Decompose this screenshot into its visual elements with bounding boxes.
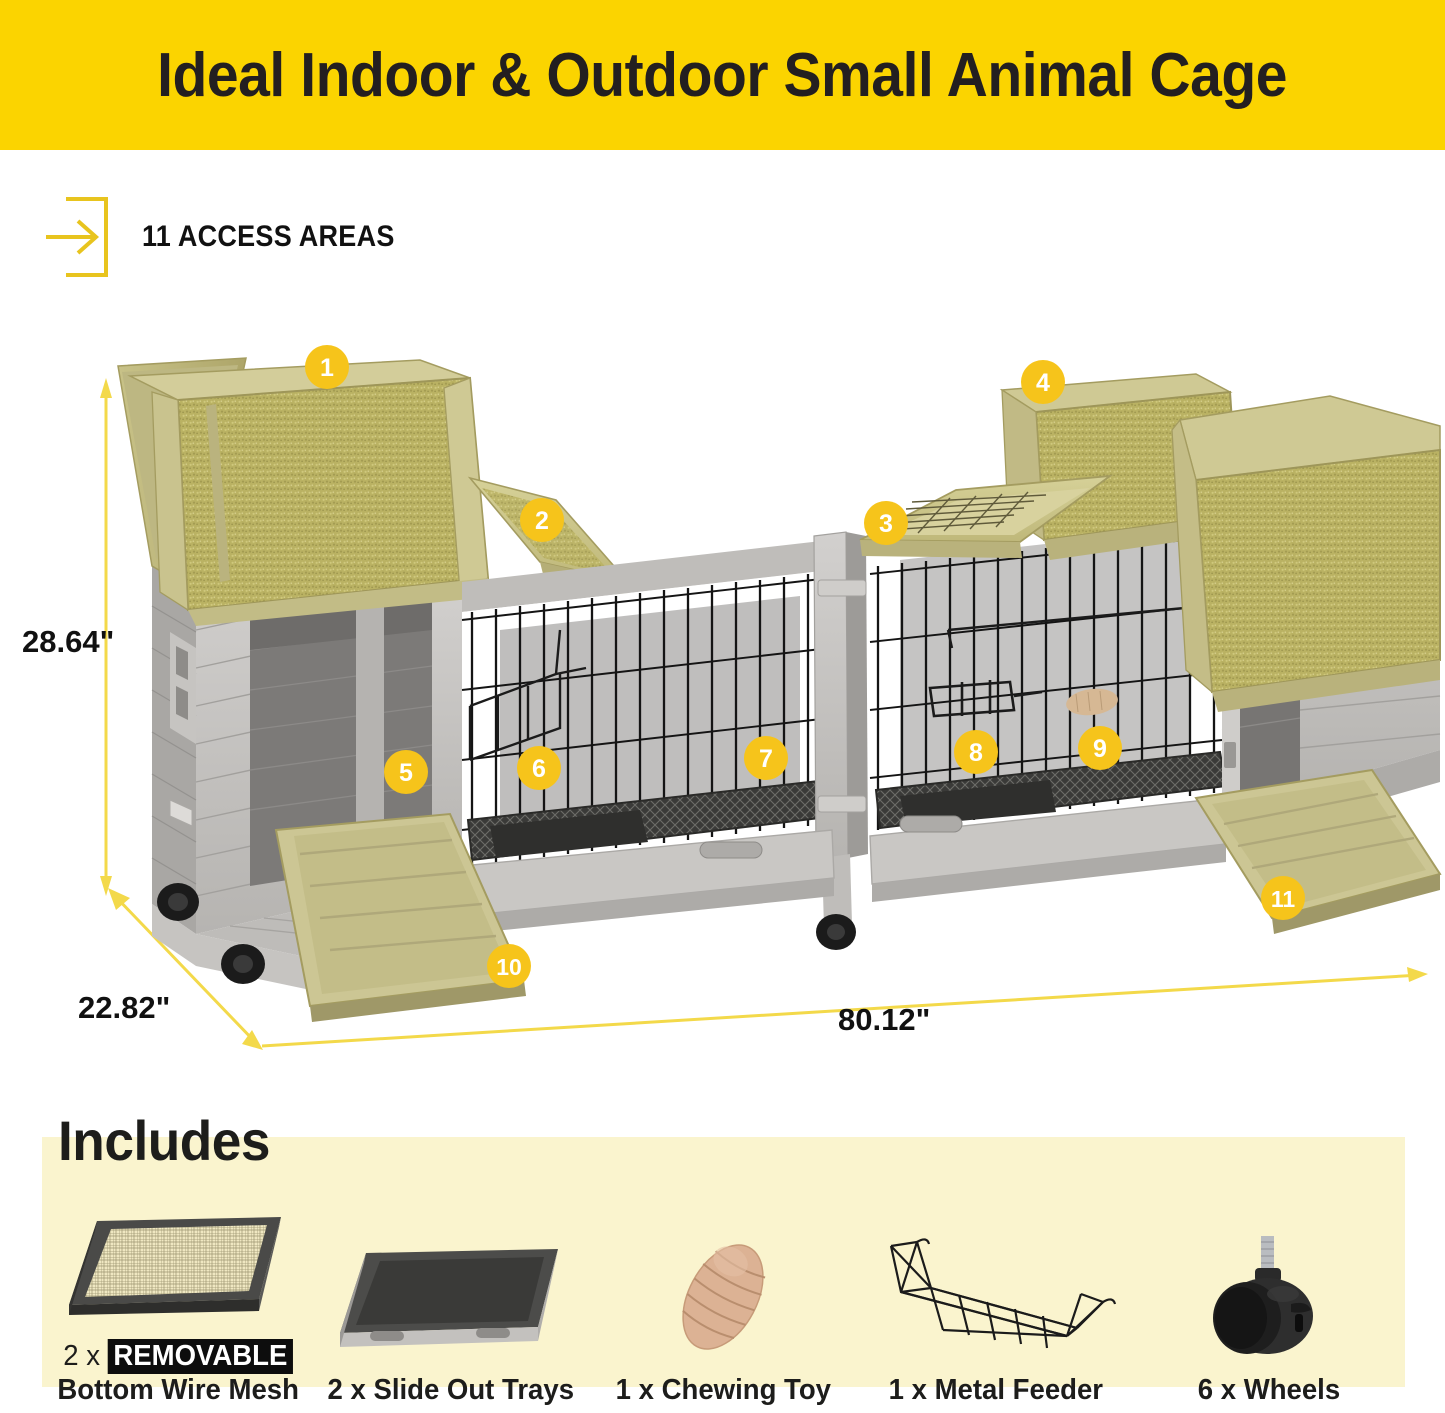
header-banner: Ideal Indoor & Outdoor Small Animal Cage xyxy=(0,0,1445,150)
access-areas-label: 11 ACCESS AREAS xyxy=(142,220,395,254)
include-label-wheels: 6 x Wheels xyxy=(1197,1373,1339,1407)
include-item-metal-feeder: 1 x Metal Feeder xyxy=(860,1175,1133,1413)
caster-wheel-icon xyxy=(1179,1231,1359,1363)
callout-badge-11-label: 11 xyxy=(1271,886,1296,912)
include-item-slide-out-tray: 2 x Slide Out Trays xyxy=(315,1175,588,1413)
callout-badge-2-label: 2 xyxy=(535,507,549,535)
callout-badge-1-label: 1 xyxy=(320,354,334,382)
callout-badge-9-label: 9 xyxy=(1093,735,1107,763)
callout-badge-4-label: 4 xyxy=(1036,369,1050,397)
include-caption-chewing-toy: 1 x Chewing Toy xyxy=(616,1373,831,1407)
include-label-wire-mesh: Bottom Wire Mesh xyxy=(57,1373,299,1407)
callout-badge-6-label: 6 xyxy=(532,755,546,783)
include-label-chewing-toy: 1 x Chewing Toy xyxy=(616,1373,831,1407)
include-caption-slide-out-tray: 2 x Slide Out Trays xyxy=(328,1373,575,1407)
include-qty-wire-mesh: 2 x xyxy=(63,1340,100,1372)
metal-feeder-icon xyxy=(871,1231,1121,1363)
wire-mesh-tray-icon xyxy=(53,1197,303,1329)
callout-badge-3-label: 3 xyxy=(879,510,893,538)
include-item-wheels: 6 x Wheels xyxy=(1132,1175,1405,1413)
include-item-wire-mesh: 2 x REMOVABLE Bottom Wire Mesh xyxy=(42,1175,315,1413)
arrow-into-box-icon xyxy=(44,193,114,281)
includes-items-row: 2 x REMOVABLE Bottom Wire Mesh 2 x Sl xyxy=(42,1175,1405,1413)
left-main-roof-lid: 1 xyxy=(118,345,488,626)
include-caption-wire-mesh: 2 x REMOVABLE Bottom Wire Mesh xyxy=(57,1339,299,1407)
access-areas-row: 11 ACCESS AREAS xyxy=(44,193,423,281)
slide-out-tray-icon xyxy=(326,1231,576,1363)
dimension-depth-label: 22.82" xyxy=(78,990,170,1025)
callout-badge-5-label: 5 xyxy=(399,759,413,787)
callout-badge-8-label: 8 xyxy=(969,739,983,767)
dimension-height-label: 28.64" xyxy=(22,624,114,659)
callout-badge-7-label: 7 xyxy=(759,745,773,773)
includes-title: Includes xyxy=(58,1108,270,1173)
include-highlight-removable: REMOVABLE xyxy=(108,1339,293,1374)
dimension-width-label: 80.12" xyxy=(838,1002,930,1037)
include-label-slide-out-tray: 2 x Slide Out Trays xyxy=(328,1373,575,1407)
product-illustration: 1 2 xyxy=(0,330,1445,1090)
include-label-metal-feeder: 1 x Metal Feeder xyxy=(889,1373,1103,1407)
page-title: Ideal Indoor & Outdoor Small Animal Cage xyxy=(158,40,1288,111)
product-infographic: Ideal Indoor & Outdoor Small Animal Cage… xyxy=(0,0,1445,1413)
right-ramp: 11 xyxy=(1196,770,1440,934)
include-caption-wheels: 6 x Wheels xyxy=(1197,1373,1339,1407)
include-item-chewing-toy: 1 x Chewing Toy xyxy=(587,1175,860,1413)
chewing-toy-icon xyxy=(623,1231,823,1363)
include-caption-metal-feeder: 1 x Metal Feeder xyxy=(889,1373,1103,1407)
left-window xyxy=(170,632,196,744)
callout-badge-10-label: 10 xyxy=(496,954,522,980)
